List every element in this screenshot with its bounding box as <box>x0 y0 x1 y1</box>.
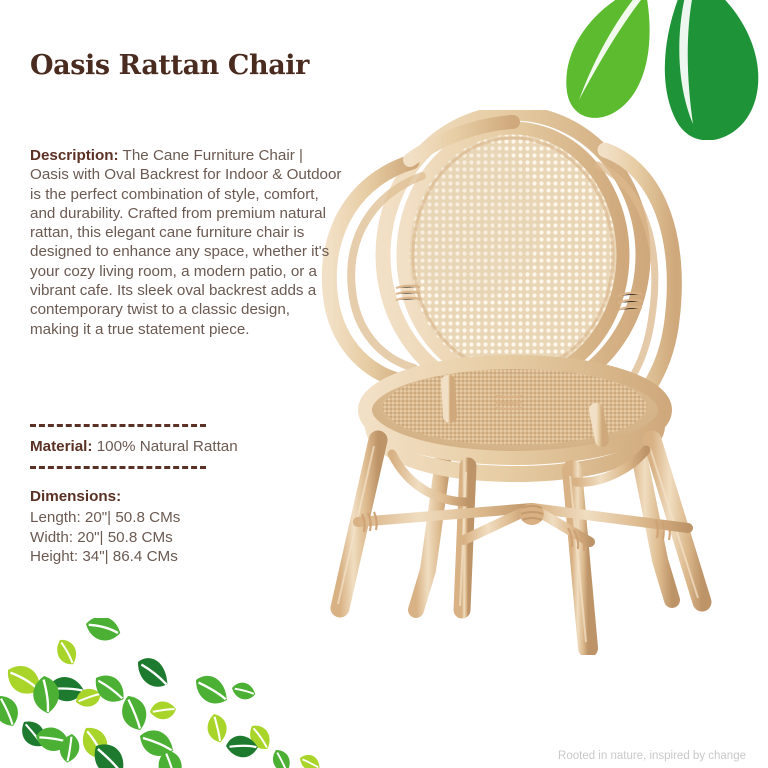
page-title: Oasis Rattan Chair <box>30 50 340 81</box>
footer-tagline: Rooted in nature, inspired by change <box>558 750 746 762</box>
scattered-leaves-icon <box>0 618 340 768</box>
material-value: 100% Natural Rattan <box>92 438 237 455</box>
description-label: Description: <box>30 147 119 164</box>
description-text: The Cane Furniture Chair | Oasis with Ov… <box>30 147 341 338</box>
material-label: Material: <box>30 438 92 455</box>
product-info-column: Oasis Rattan Chair <box>30 50 340 81</box>
rattan-chair-photo <box>300 110 740 655</box>
dimension-width: Width: 20"| 50.8 CMs <box>30 528 342 547</box>
dimensions-label: Dimensions: <box>30 487 342 506</box>
dimension-length: Length: 20"| 50.8 CMs <box>30 508 342 527</box>
description-paragraph: Description: The Cane Furniture Chair | … <box>30 146 342 339</box>
divider-below-material <box>30 466 206 469</box>
material-paragraph: Material: 100% Natural Rattan <box>30 437 342 456</box>
dimensions-section: Dimensions: Length: 20"| 50.8 CMs Width:… <box>30 487 342 566</box>
divider-above-material <box>30 424 206 427</box>
dimension-height: Height: 34"| 86.4 CMs <box>30 547 342 566</box>
